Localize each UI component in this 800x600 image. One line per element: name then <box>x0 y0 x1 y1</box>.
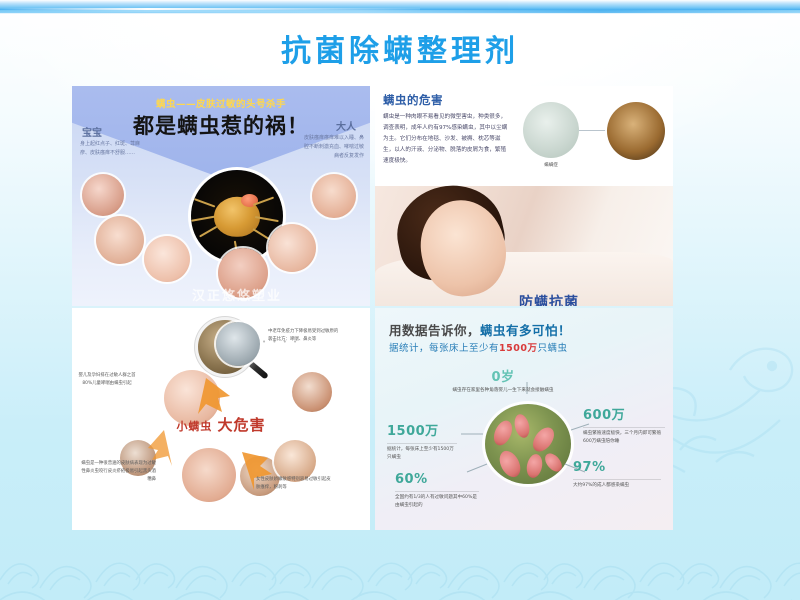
p1-watermark: 汉正悠悠塑业 <box>192 285 282 304</box>
top-decor-band-accent <box>0 10 800 13</box>
p1-label-baby: 宝宝 <box>82 124 102 139</box>
skin-photo-3 <box>144 236 190 282</box>
p1-text-adult: 皮肤瘙痒瘙痒难以入睡、鼻腔不断刺激充血、哮喘过敏病者反复发作 <box>302 134 364 160</box>
p3-caption-2: 中老年免疫力下降极易受到过敏原的袭击比方：哮喘、鼻炎等 <box>268 328 342 344</box>
p2-slogan-main: 防螨抗菌 <box>519 292 579 306</box>
p3-caption-1: 婴儿及孕妇排在过敏人群之首80%儿童哮喘由螨虫引起 <box>78 372 136 388</box>
connector-line <box>579 130 609 131</box>
page-title: 抗菌除螨整理剂 <box>0 26 800 70</box>
mite-closeup-photo <box>607 102 665 160</box>
skin-photo-1 <box>82 174 124 216</box>
mite-micrograph-photo <box>523 102 579 158</box>
skin-photo-2 <box>96 216 144 264</box>
sleeping-woman-photo: 防螨抗菌 让您 “没螨” 睡眠 <box>375 186 673 306</box>
p2-body-text: 螨虫是一种肉眼不易看见的微型害虫，种类很多，调查表明，成年人约有97%感染螨虫，… <box>383 112 511 167</box>
stat-1-num: 1500万 <box>387 420 457 439</box>
p2-heading: 螨虫的危害 <box>383 92 443 108</box>
p3-title-big: 大危害 <box>218 416 266 434</box>
stat-6-million: 600万 螨虫繁殖速度极快，三个月内即可繁殖600万螨虫陪你睡 <box>583 404 665 447</box>
stat-0-num: 0岁 <box>451 366 555 385</box>
p3-caption-4: 女性皮肤娇嫩敏感特别容易过敏引起皮肤瘙痒，粉刺等 <box>256 476 334 492</box>
p1-label-adult: 大人 <box>336 118 356 133</box>
slide-canvas: 抗菌除螨整理剂 螨虫——皮肤过敏的头号杀手 都是螨虫惹的祸！ 宝宝 大人 身上起… <box>0 0 800 600</box>
panel-mite-data: 用数据告诉你，螨虫有多可怕！ 据统计，每张床上至少有1500万只螨虫 0岁 螨虫… <box>375 308 673 530</box>
stat-0-years: 0岁 螨虫存在家里各种角落婴儿一生下来就会接触螨虫 <box>451 366 555 395</box>
stat-60-percent: 60% 全国约有1/3的人有过敏问题其中60%是由螨虫引起的 <box>395 472 479 511</box>
stat-15-million: 1500万 据统计，每张床上至少有1500万只螨虫 <box>387 420 457 463</box>
stat-0-desc: 螨虫存在家里各种角落婴儿一生下来就会接触螨虫 <box>451 387 555 395</box>
skin-photo-5 <box>268 224 316 272</box>
stat-97-percent: 97% 大约97%的成人都感染螨虫 <box>573 460 661 490</box>
panel-mite-harm: 螨虫的危害 螨虫是一种肉眼不易看见的微型害虫，种类很多，调查表明，成年人约有97… <box>375 86 673 306</box>
p1-text-baby: 身上起红点子、红斑、荨麻疹、皮肤瘙痒不舒服…… <box>80 140 142 158</box>
p3-title-small: 小螨虫 <box>176 420 212 433</box>
panel-small-mite-big-harm: • • • • 小螨虫 大危害 婴儿及孕妇排在过敏人群之首80%儿童哮喘由螨虫引… <box>72 308 370 530</box>
stat-3-desc: 全国约有1/3的人有过敏问题其中60%是由螨虫引起的 <box>395 494 479 511</box>
p1-subtitle: 螨虫——皮肤过敏的头号杀手 <box>72 96 370 110</box>
stat-4-desc: 大约97%的成人都感染螨虫 <box>573 482 661 490</box>
p3-title: 小螨虫 大危害 <box>72 414 370 435</box>
mite-head-shape <box>241 194 258 207</box>
p3-caption-3: 螨虫是一种很普遍的皮肤病表现为过敏性鼻炎虫咬行皮炎疥疮极易引起黑头酒糟鼻 <box>78 460 156 484</box>
panel-mites-cause-allergy: 螨虫——皮肤过敏的头号杀手 都是螨虫惹的祸！ 宝宝 大人 身上起红点子、红斑、荨… <box>72 86 370 306</box>
stat-3-num: 60% <box>395 472 479 487</box>
p2-photo-caption: 螨螨症 <box>529 162 573 168</box>
stat-2-desc: 螨虫繁殖速度极快，三个月内即可繁殖600万螨虫陪你睡 <box>583 430 665 447</box>
stat-1-desc: 据统计，每张床上至少有1500万只螨虫 <box>387 446 457 463</box>
stat-4-num: 97% <box>573 460 661 475</box>
stat-2-num: 600万 <box>583 404 665 423</box>
skin-photo-6 <box>312 174 356 218</box>
